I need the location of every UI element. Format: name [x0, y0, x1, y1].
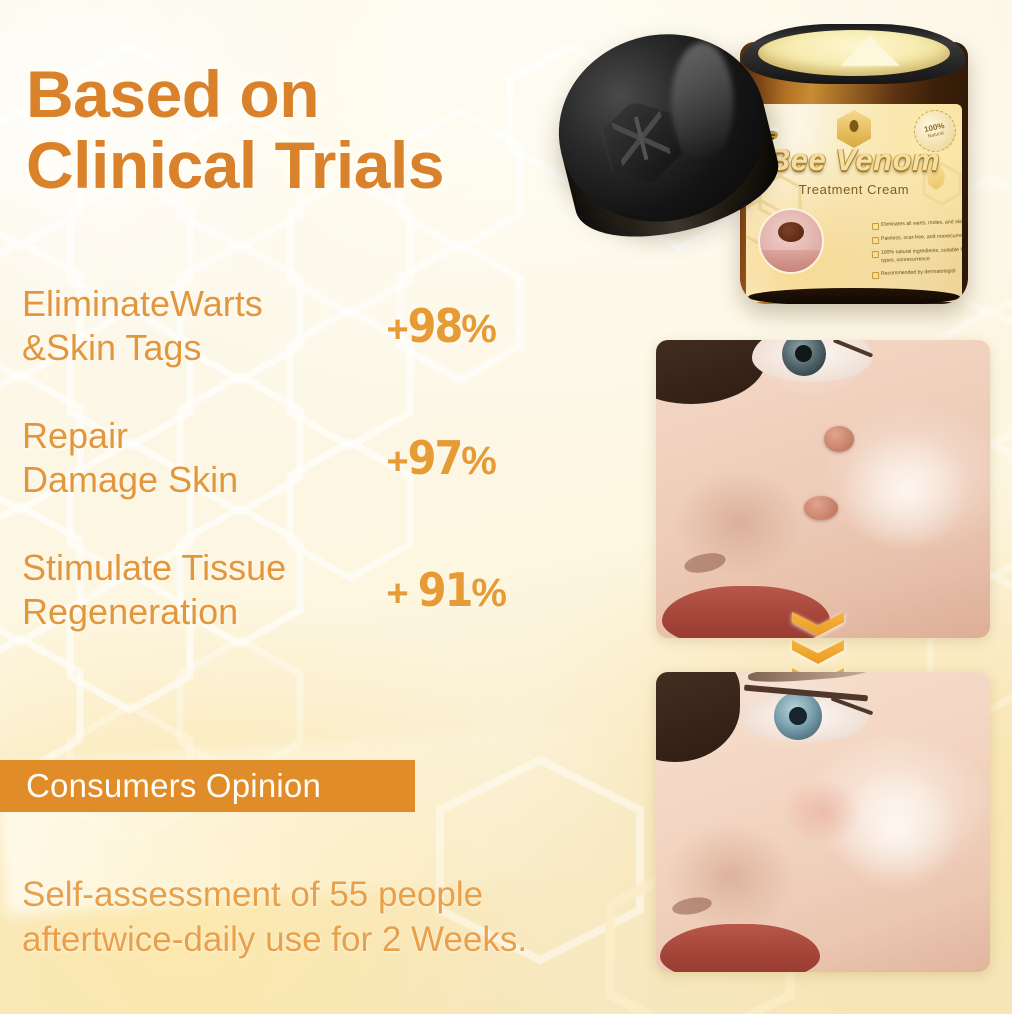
after-photo: [656, 672, 990, 972]
consumers-opinion-banner: Consumers Opinion: [0, 760, 415, 812]
hair: [656, 672, 740, 762]
lips: [660, 924, 820, 972]
wart-lesion-upper: [824, 426, 854, 452]
benefit-row: Repair Damage Skin +97%: [22, 414, 582, 502]
plus-sign: +: [386, 309, 407, 351]
lid-gloss-highlight: [671, 43, 733, 163]
benefit-label-line-2: Damage Skin: [22, 458, 382, 502]
cream-peak: [840, 36, 900, 66]
face-image-after: [656, 672, 990, 972]
consumers-opinion-label: Consumers Opinion: [0, 767, 321, 805]
percent-sign: %: [471, 571, 506, 615]
percentage-value: 97: [408, 431, 462, 485]
benefit-label: EliminateWarts &Skin Tags: [22, 282, 382, 370]
nose-shadow: [666, 822, 796, 932]
jar-base: [748, 288, 960, 304]
pupil: [795, 345, 812, 362]
pupil: [789, 707, 807, 725]
plus-sign: +: [386, 573, 407, 615]
before-photo: [656, 340, 990, 638]
hair: [656, 340, 766, 404]
benefit-label-line-2: Regeneration: [22, 590, 382, 634]
benefit-percentage: + 91%: [386, 563, 566, 617]
benefit-list: EliminateWarts &Skin Tags +98% Repair Da…: [22, 282, 582, 633]
face-image-before: [656, 340, 990, 638]
percentage-value: 91: [418, 563, 472, 617]
benefit-percentage: +98%: [386, 299, 566, 353]
cream-surface: [758, 30, 950, 76]
benefit-label-line-2: &Skin Tags: [22, 326, 382, 370]
product-claim: 100% natural ingredients, suitable for a…: [872, 245, 962, 265]
benefit-row: EliminateWarts &Skin Tags +98%: [22, 282, 582, 370]
chevron-down-icon: [792, 612, 844, 636]
benefit-label-line-1: EliminateWarts: [22, 282, 382, 326]
percentage-value: 98: [408, 299, 462, 353]
plus-sign: +: [386, 441, 407, 483]
blush: [784, 780, 862, 844]
cheek-highlight: [840, 432, 970, 552]
product-shot: 100% Natural Bee Venom Treatment Cream E…: [560, 10, 1000, 310]
eyebrow: [748, 672, 869, 684]
benefit-row: Stimulate Tissue Regeneration + 91%: [22, 546, 582, 634]
benefit-label: Stimulate Tissue Regeneration: [22, 546, 382, 634]
product-claim: Eliminates all warts, moles, and skin ta…: [872, 218, 962, 230]
wart-lesion-lower: [804, 496, 838, 520]
benefit-label: Repair Damage Skin: [22, 414, 382, 502]
consumers-opinion-note: Self-assessment of 55 people aftertwice-…: [22, 873, 602, 963]
product-claim: Painless, scar-free, and nonrecurrence: [872, 232, 962, 244]
percent-sign: %: [461, 307, 496, 351]
chevron-down-icon: [792, 640, 844, 664]
percent-sign: %: [461, 439, 496, 483]
product-claim: Recommended by dermatologist: [872, 267, 962, 279]
benefit-label-line-1: Repair: [22, 414, 382, 458]
benefit-percentage: +97%: [386, 431, 566, 485]
benefit-label-line-1: Stimulate Tissue: [22, 546, 382, 590]
promo-poster: Based on Clinical Trials EliminateWarts …: [0, 0, 1012, 1014]
headline-line-1: Based on: [26, 57, 319, 131]
product-claim-list: Eliminates all warts, moles, and skin ta…: [832, 220, 962, 283]
bottom-left-glow: [0, 684, 500, 1014]
headline-line-2: Clinical Trials: [26, 133, 646, 198]
